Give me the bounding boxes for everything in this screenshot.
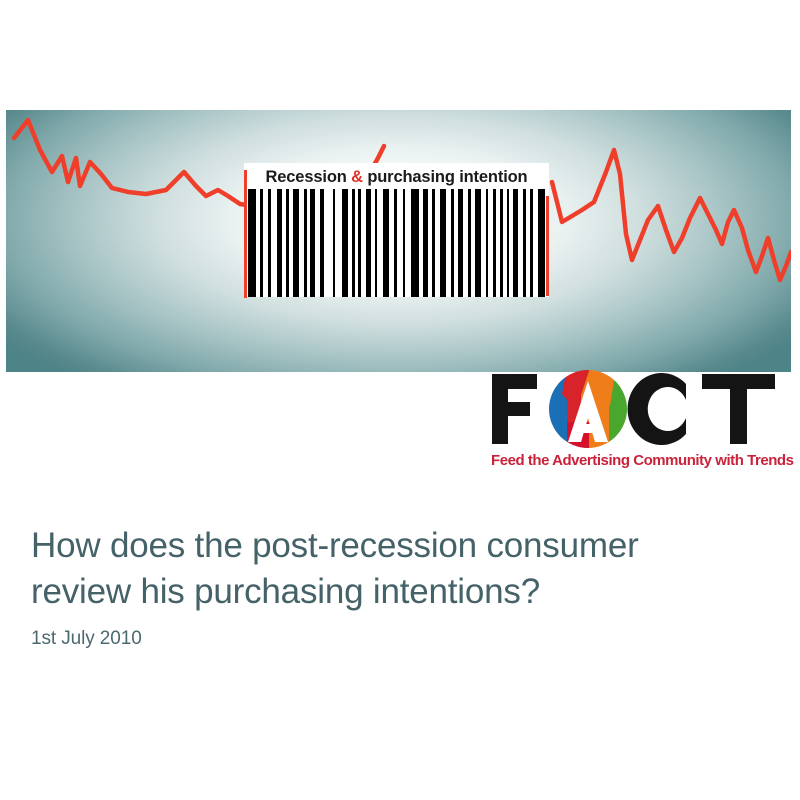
page-title: How does the post-recession consumer rev… [31, 523, 751, 615]
fact-logo: Feed the Advertising Community with Tren… [490, 370, 790, 475]
barcode-bars [244, 189, 549, 297]
barcode-graphic: Recession & purchasing intention [244, 163, 549, 297]
logo-letter-f [492, 374, 537, 444]
barcode-left-red-accent [244, 170, 247, 298]
logo-letter-t [702, 374, 775, 444]
logo-letter-c [628, 373, 686, 445]
fact-logo-tagline: Feed the Advertising Community with Tren… [491, 452, 787, 469]
logo-disc-a [545, 370, 633, 448]
barcode-title-ampersand: & [351, 168, 363, 186]
page-title-line-2: review his purchasing intentions? [31, 569, 751, 615]
page-title-line-1: How does the post-recession consumer [31, 523, 751, 569]
line-chart-path-right [552, 150, 791, 280]
barcode-title: Recession & purchasing intention [244, 168, 549, 187]
barcode-right-red-accent [546, 196, 549, 296]
presentation-date: 1st July 2010 [31, 628, 142, 650]
barcode-title-suffix: purchasing intention [363, 168, 528, 186]
barcode-title-prefix: Recession [265, 168, 351, 186]
fact-logo-svg [490, 370, 790, 448]
fact-wordmark [490, 370, 790, 448]
